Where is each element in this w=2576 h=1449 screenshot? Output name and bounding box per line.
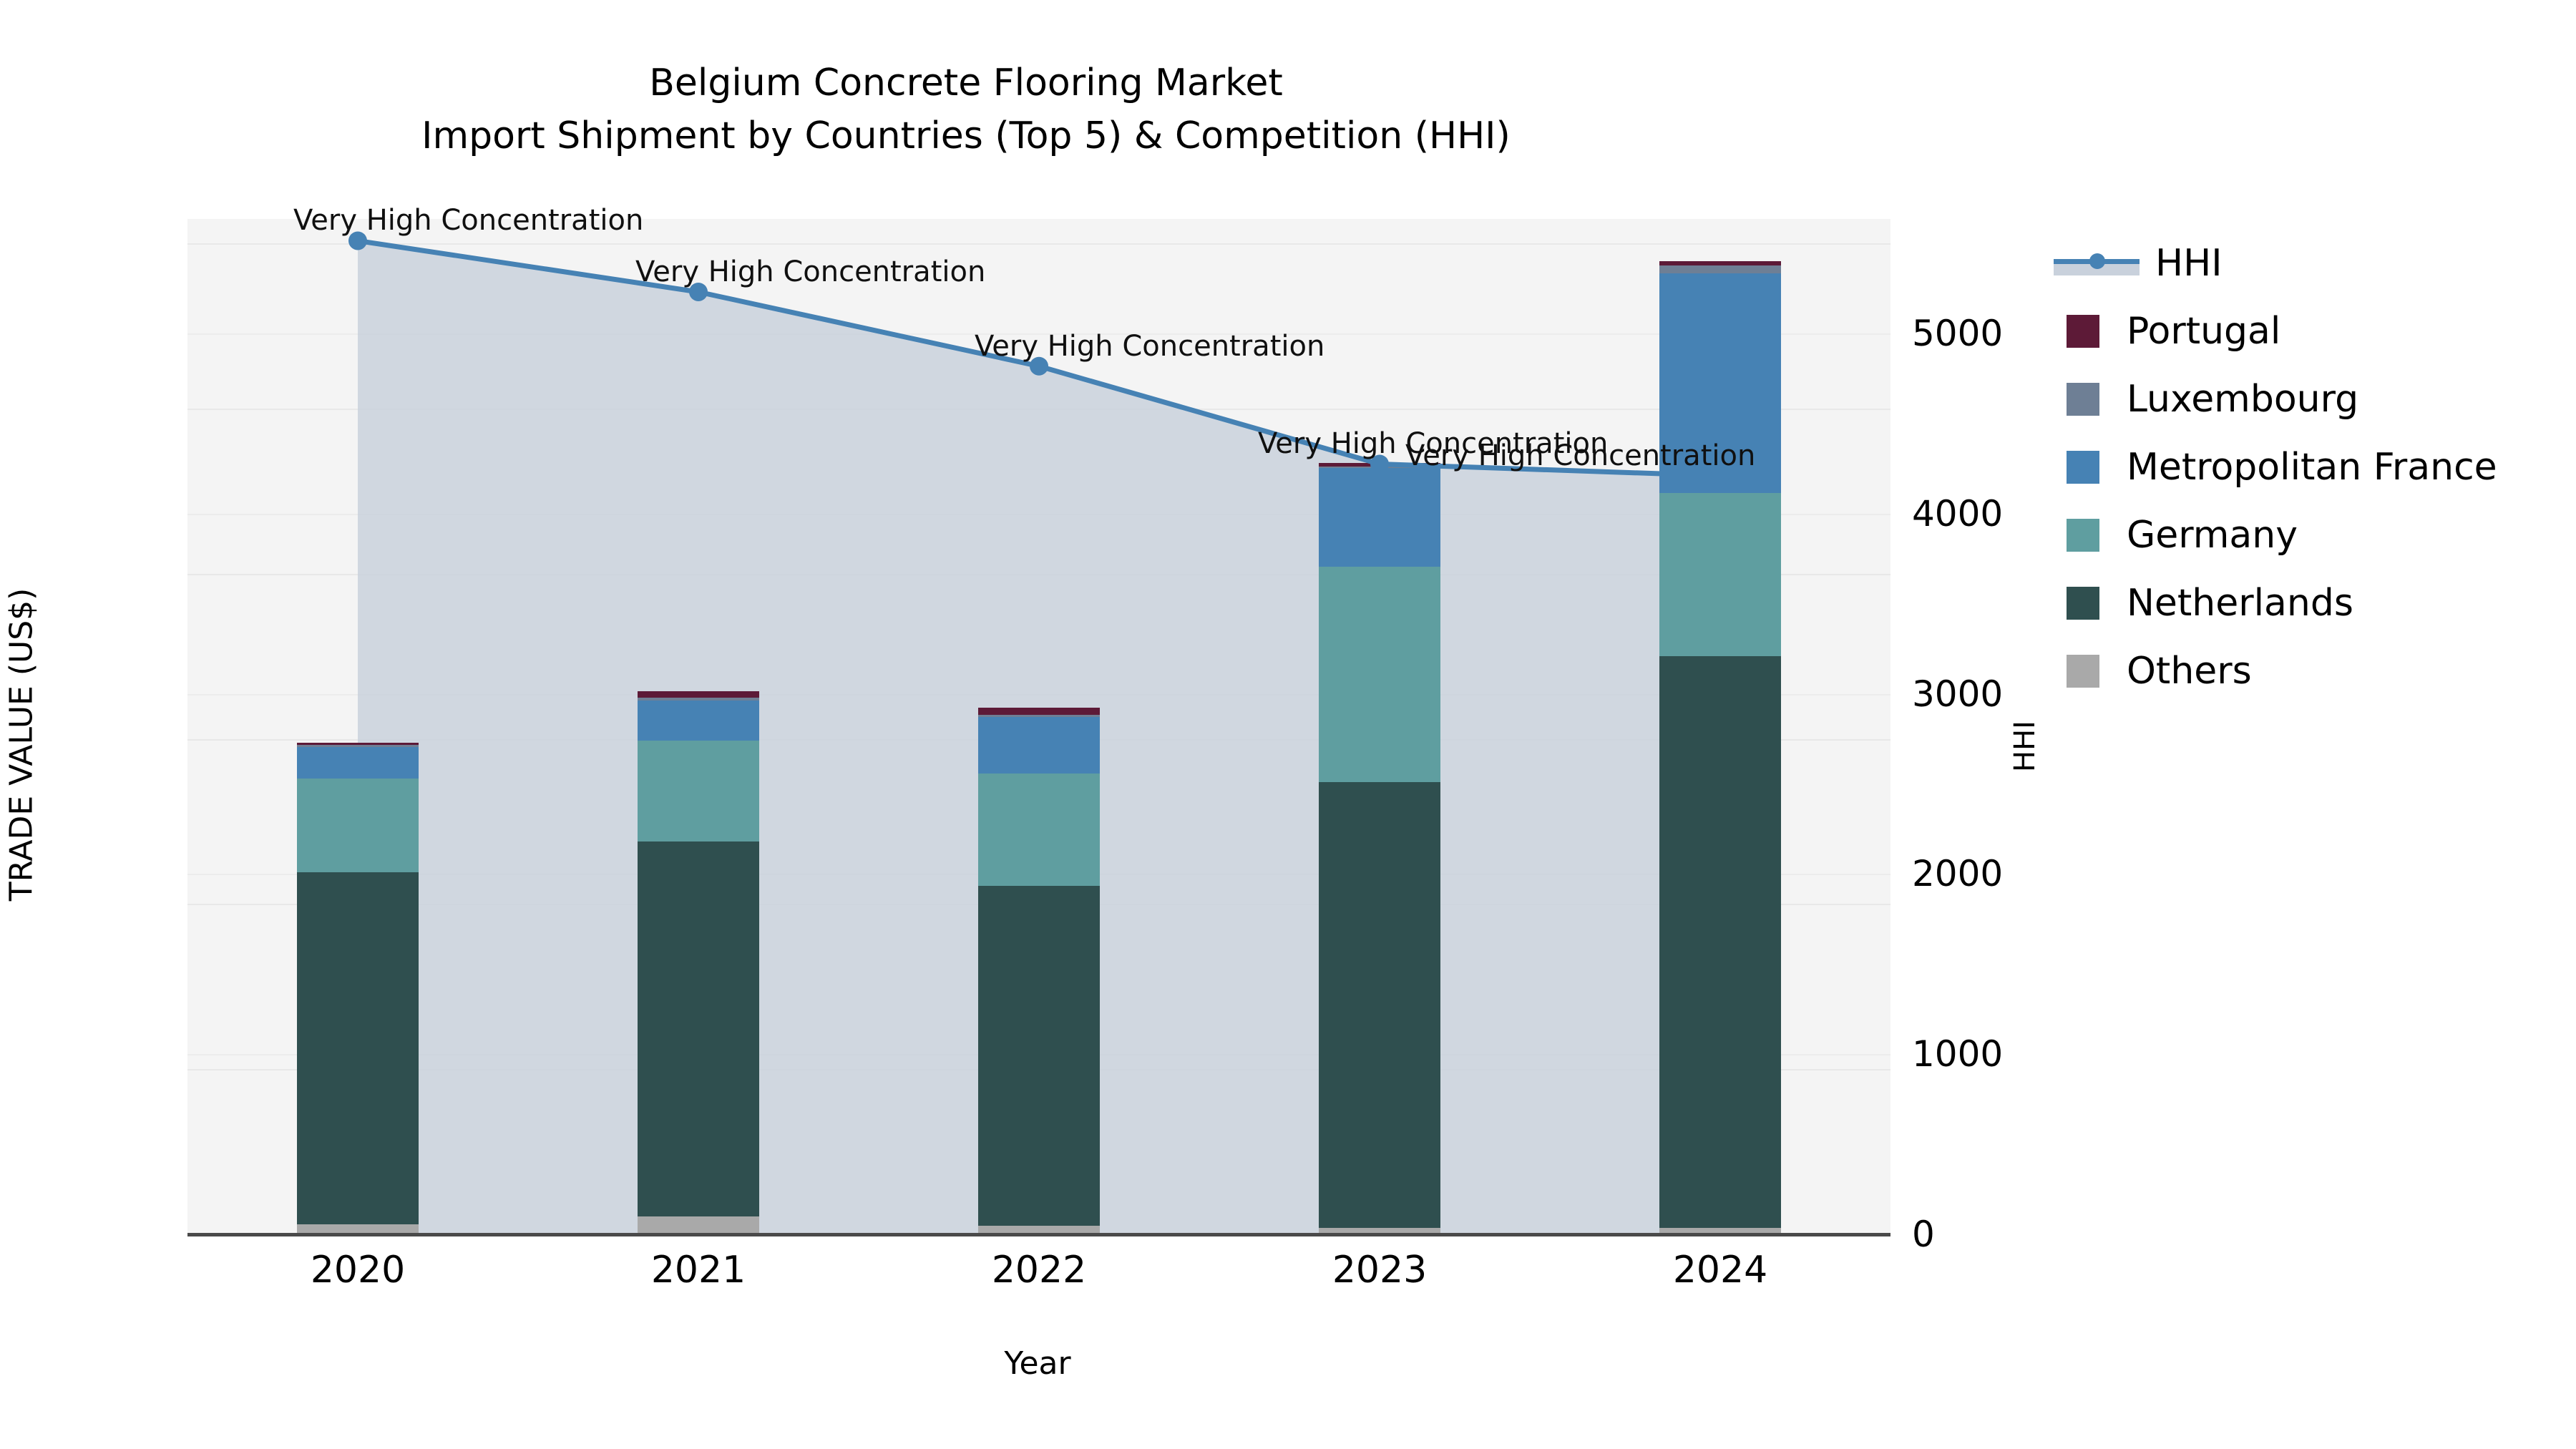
y-axis-right-label-wrap: HHI (2011, 730, 2039, 758)
color-swatch-icon (2067, 655, 2099, 688)
annotation-2021: Very High Concentration (635, 258, 985, 286)
color-swatch-icon (2067, 451, 2099, 484)
x-tick-2022: 2022 (932, 1249, 1146, 1292)
y-right-tick-0: 0 (1912, 1214, 1935, 1255)
legend-item-luxembourg[interactable]: Luxembourg (2054, 365, 2555, 433)
x-axis-spine (187, 1233, 1890, 1236)
x-tick-2021: 2021 (591, 1249, 806, 1292)
chart-title-line-1: Belgium Concrete Flooring Market (0, 57, 1932, 110)
legend-item-label: Others (2127, 650, 2252, 693)
legend-item-label: Portugal (2127, 310, 2280, 353)
y-right-tick-1000: 1000 (1912, 1033, 2003, 1075)
plot-area (187, 219, 1890, 1234)
y-right-tick-5000: 5000 (1912, 313, 2003, 354)
color-swatch-icon (2067, 519, 2099, 552)
annotation-2020: Very High Concentration (293, 206, 643, 235)
annotation-2024: Very High Concentration (1405, 441, 1755, 470)
chart-title-line-2: Import Shipment by Countries (Top 5) & C… (0, 110, 1932, 163)
chart-legend: HHIPortugalLuxembourgMetropolitan France… (2054, 229, 2555, 705)
chart-figure: Belgium Concrete Flooring Market Import … (0, 0, 2576, 1449)
y-right-tick-2000: 2000 (1912, 853, 2003, 894)
hhi-line-svg (187, 219, 1890, 1234)
line-marker-icon (2054, 247, 2140, 280)
y-right-tick-4000: 4000 (1912, 493, 2003, 535)
legend-item-others[interactable]: Others (2054, 637, 2555, 705)
color-swatch-icon (2067, 587, 2099, 620)
legend-item-label: HHI (2155, 242, 2223, 285)
legend-item-label: Luxembourg (2127, 378, 2358, 421)
legend-dot-icon (2089, 253, 2105, 269)
legend-item-netherlands[interactable]: Netherlands (2054, 569, 2555, 637)
y-axis-right-label: HHI (2009, 675, 2041, 818)
x-tick-2023: 2023 (1272, 1249, 1487, 1292)
color-swatch-icon (2067, 383, 2099, 416)
x-tick-2024: 2024 (1613, 1249, 1828, 1292)
y-right-tick-3000: 3000 (1912, 673, 2003, 715)
y-axis-left-label: TRADE VALUE (US$) (4, 523, 40, 967)
color-swatch-icon (2067, 315, 2099, 348)
legend-item-hhi[interactable]: HHI (2054, 229, 2555, 297)
legend-item-portugal[interactable]: Portugal (2054, 297, 2555, 365)
legend-item-label: Netherlands (2127, 582, 2353, 625)
chart-title: Belgium Concrete Flooring Market Import … (0, 57, 1932, 163)
annotation-2022: Very High Concentration (975, 332, 1324, 361)
legend-item-label: Germany (2127, 514, 2298, 557)
y-axis-left-label-wrap: TRADE VALUE (US$) (0, 726, 43, 769)
x-axis-label: Year (0, 1345, 2075, 1382)
x-tick-2020: 2020 (250, 1249, 465, 1292)
legend-item-label: Metropolitan France (2127, 446, 2497, 489)
legend-item-germany[interactable]: Germany (2054, 501, 2555, 569)
legend-item-metropolitan-france[interactable]: Metropolitan France (2054, 433, 2555, 501)
